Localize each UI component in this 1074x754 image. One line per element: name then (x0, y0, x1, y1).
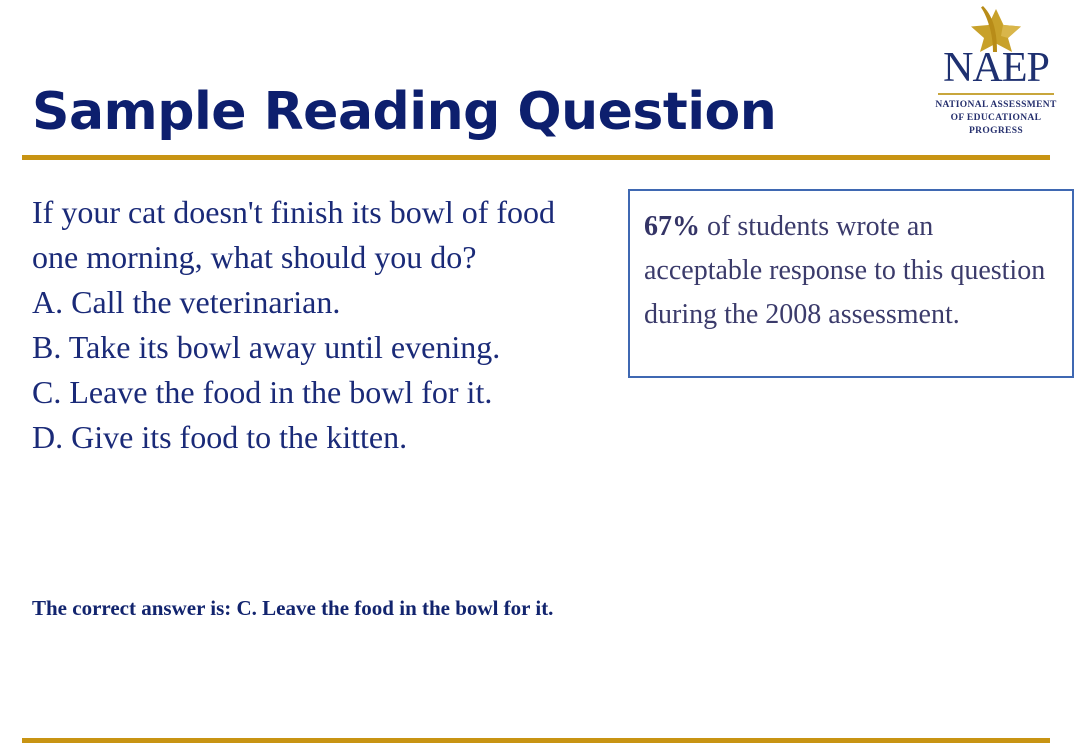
question-stem: If your cat doesn't finish its bowl of f… (32, 190, 592, 280)
logo-subtitle-line-2: OF EDUCATIONAL (930, 112, 1062, 125)
answer-option-c[interactable]: C. Leave the food in the bowl for it. (32, 370, 592, 415)
answer-option-a[interactable]: A. Call the veterinarian. (32, 280, 592, 325)
naep-logo: NAEP NATIONAL ASSESSMENT OF EDUCATIONAL … (930, 6, 1062, 130)
divider-bottom (22, 738, 1050, 743)
answer-option-d[interactable]: D. Give its food to the kitten. (32, 415, 592, 460)
callout-description: of students wrote an acceptable response… (644, 211, 1045, 330)
correct-answer-text: The correct answer is: C. Leave the food… (32, 592, 562, 625)
callout-percent: 67% (644, 211, 700, 242)
question-block: If your cat doesn't finish its bowl of f… (32, 190, 592, 460)
logo-divider (938, 93, 1054, 95)
star-icon (930, 6, 1062, 52)
slide-canvas: Sample Reading Question NAEP NATIONAL AS… (0, 0, 1074, 754)
answer-option-b[interactable]: B. Take its bowl away until evening. (32, 325, 592, 370)
naep-wordmark: NAEP (930, 49, 1062, 89)
logo-subtitle-line-3: PROGRESS (930, 125, 1062, 138)
page-title: Sample Reading Question (32, 85, 776, 140)
answer-options-list: A. Call the veterinarian. B. Take its bo… (32, 280, 592, 460)
callout-text: 67% of students wrote an acceptable resp… (644, 205, 1056, 337)
logo-subtitle-line-1: NATIONAL ASSESSMENT (930, 99, 1062, 112)
statistic-callout-box: 67% of students wrote an acceptable resp… (628, 189, 1074, 378)
divider-top (22, 155, 1050, 160)
logo-subtitle: NATIONAL ASSESSMENT OF EDUCATIONAL PROGR… (930, 99, 1062, 137)
